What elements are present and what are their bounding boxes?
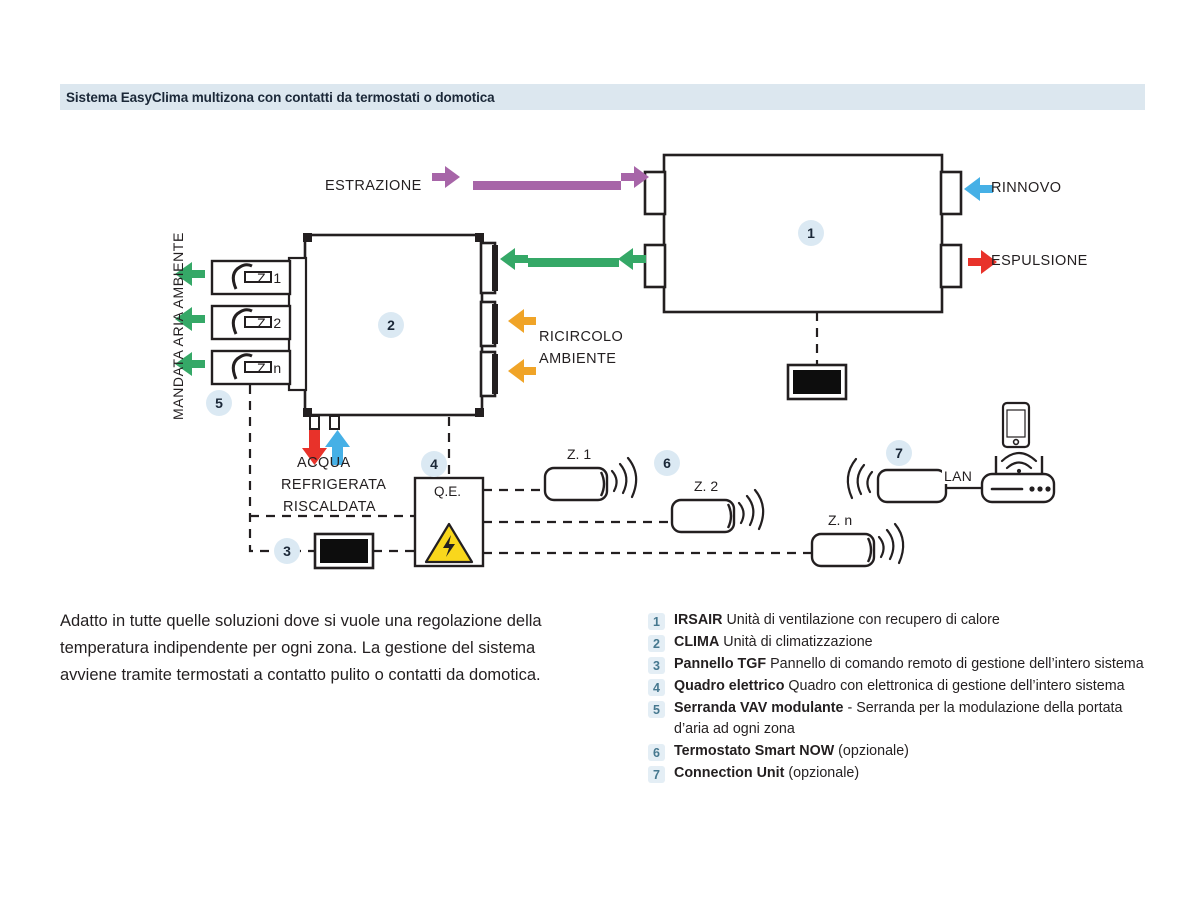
wifi-arcs-icon	[612, 458, 636, 497]
legend-item: 4 Quadro elettrico Quadro con elettronic…	[648, 676, 1158, 697]
legend-text: Connection Unit (opzionale)	[674, 763, 859, 784]
estrazione-flow	[432, 166, 649, 190]
router[interactable]	[982, 453, 1054, 502]
thermostat-label-zn: Z. n	[828, 512, 852, 528]
legend-text: Pannello TGF Pannello di comando remoto …	[674, 654, 1144, 675]
legend-text: Serranda VAV modulante - Serranda per la…	[674, 698, 1158, 740]
legend-desc: Unità di climatizzazione	[719, 634, 872, 650]
badge-clima: 2	[378, 312, 404, 338]
pannello-tgf[interactable]	[315, 534, 373, 568]
legend-desc: Pannello di comando remoto di gestione d…	[766, 656, 1144, 672]
badge-irsair: 1	[798, 220, 824, 246]
water-connections	[310, 416, 339, 429]
badge-termostato: 6	[654, 450, 680, 476]
description-text: Adatto in tutte quelle soluzioni dove si…	[60, 608, 565, 689]
label-estrazione: ESTRAZIONE	[325, 178, 422, 194]
badge-connection: 7	[886, 440, 912, 466]
label-ricircolo-2: AMBIENTE	[539, 351, 616, 367]
legend-text: IRSAIR Unità di ventilazione con recuper…	[674, 610, 1000, 631]
legend-term: Serranda VAV modulante	[674, 700, 843, 716]
label-espulsione: ESPULSIONE	[991, 253, 1088, 269]
legend-item: 5 Serranda VAV modulante - Serranda per …	[648, 698, 1158, 740]
legend-item: 1 IRSAIR Unità di ventilazione con recup…	[648, 610, 1158, 631]
legend-item: 2 CLIMA Unità di climatizzazione	[648, 632, 1158, 653]
label-acqua: ACQUA	[297, 455, 351, 471]
label-refrigerata: REFRIGERATA	[281, 477, 386, 493]
legend-text: Quadro elettrico Quadro con elettronica …	[674, 676, 1125, 697]
legend-text: CLIMA Unità di climatizzazione	[674, 632, 873, 653]
legend-desc: (opzionale)	[834, 743, 909, 759]
wifi-arcs-icon	[739, 490, 763, 529]
mandata-flow-green	[500, 248, 646, 270]
damper-label-z2: Z. 2	[257, 315, 281, 331]
badge-tgf: 3	[274, 538, 300, 564]
label-ricircolo-1: RICIRCOLO	[539, 329, 623, 345]
damper-label-zn: Z. n	[257, 360, 281, 376]
wifi-arcs-icon	[879, 524, 903, 563]
label-riscaldata: RISCALDATA	[283, 499, 376, 515]
thermostat-z1[interactable]	[545, 458, 636, 500]
legend-desc: (opzionale)	[784, 765, 859, 781]
legend-desc: Quadro con elettronica di gestione dell’…	[784, 678, 1124, 694]
badge-quadro: 4	[421, 451, 447, 477]
legend-number: 4	[648, 679, 665, 696]
legend-item: 6 Termostato Smart NOW (opzionale)	[648, 741, 1158, 762]
legend-term: Pannello TGF	[674, 656, 766, 672]
diagram-page: Sistema EasyClima multizona con contatti…	[0, 0, 1200, 900]
label-mandata-aria-ambiente: MANDATA ARIA AMBIENTE	[170, 232, 186, 420]
legend-desc: Unità di ventilazione con recupero di ca…	[722, 612, 999, 628]
legend-number: 3	[648, 657, 665, 674]
smartphone[interactable]	[1003, 403, 1029, 447]
legend-number: 7	[648, 766, 665, 783]
thermostat-label-z1: Z. 1	[567, 446, 591, 462]
damper-label-z1: Z. 1	[257, 270, 281, 286]
legend-term: Termostato Smart NOW	[674, 743, 834, 759]
legend-number: 5	[648, 701, 665, 718]
thermostat-label-z2: Z. 2	[694, 478, 718, 494]
legend-term: IRSAIR	[674, 612, 722, 628]
legend-text: Termostato Smart NOW (opzionale)	[674, 741, 909, 762]
legend-term: Quadro elettrico	[674, 678, 784, 694]
irsair-port-right-bottom	[941, 245, 961, 287]
legend-item: 3 Pannello TGF Pannello di comando remot…	[648, 654, 1158, 675]
thermostat-zn[interactable]	[812, 524, 903, 566]
wifi-arcs-icon	[848, 459, 872, 498]
legend-number: 1	[648, 613, 665, 630]
legend-term: CLIMA	[674, 634, 719, 650]
badge-serranda: 5	[206, 390, 232, 416]
pannello-tgf-irsair[interactable]	[788, 365, 846, 399]
connection-unit[interactable]	[848, 459, 1000, 502]
rinnovo-arrow	[964, 177, 993, 201]
legend-term: Connection Unit	[674, 765, 784, 781]
legend-list: 1 IRSAIR Unità di ventilazione con recup…	[648, 610, 1158, 785]
irsair-port-left-top	[645, 172, 665, 214]
ricircolo-arrows	[508, 309, 536, 383]
legend-number: 2	[648, 635, 665, 652]
legend-item: 7 Connection Unit (opzionale)	[648, 763, 1158, 784]
legend-number: 6	[648, 744, 665, 761]
wifi-signal-icon	[1002, 453, 1036, 468]
irsair-port-right-top	[941, 172, 961, 214]
label-qe: Q.E.	[434, 484, 461, 499]
irsair-port-left-bottom	[645, 245, 665, 287]
thermostat-z2[interactable]	[672, 490, 763, 532]
label-rinnovo: RINNOVO	[991, 180, 1061, 196]
clima-supply-plenum	[289, 258, 306, 390]
label-lan: LAN	[942, 468, 974, 484]
